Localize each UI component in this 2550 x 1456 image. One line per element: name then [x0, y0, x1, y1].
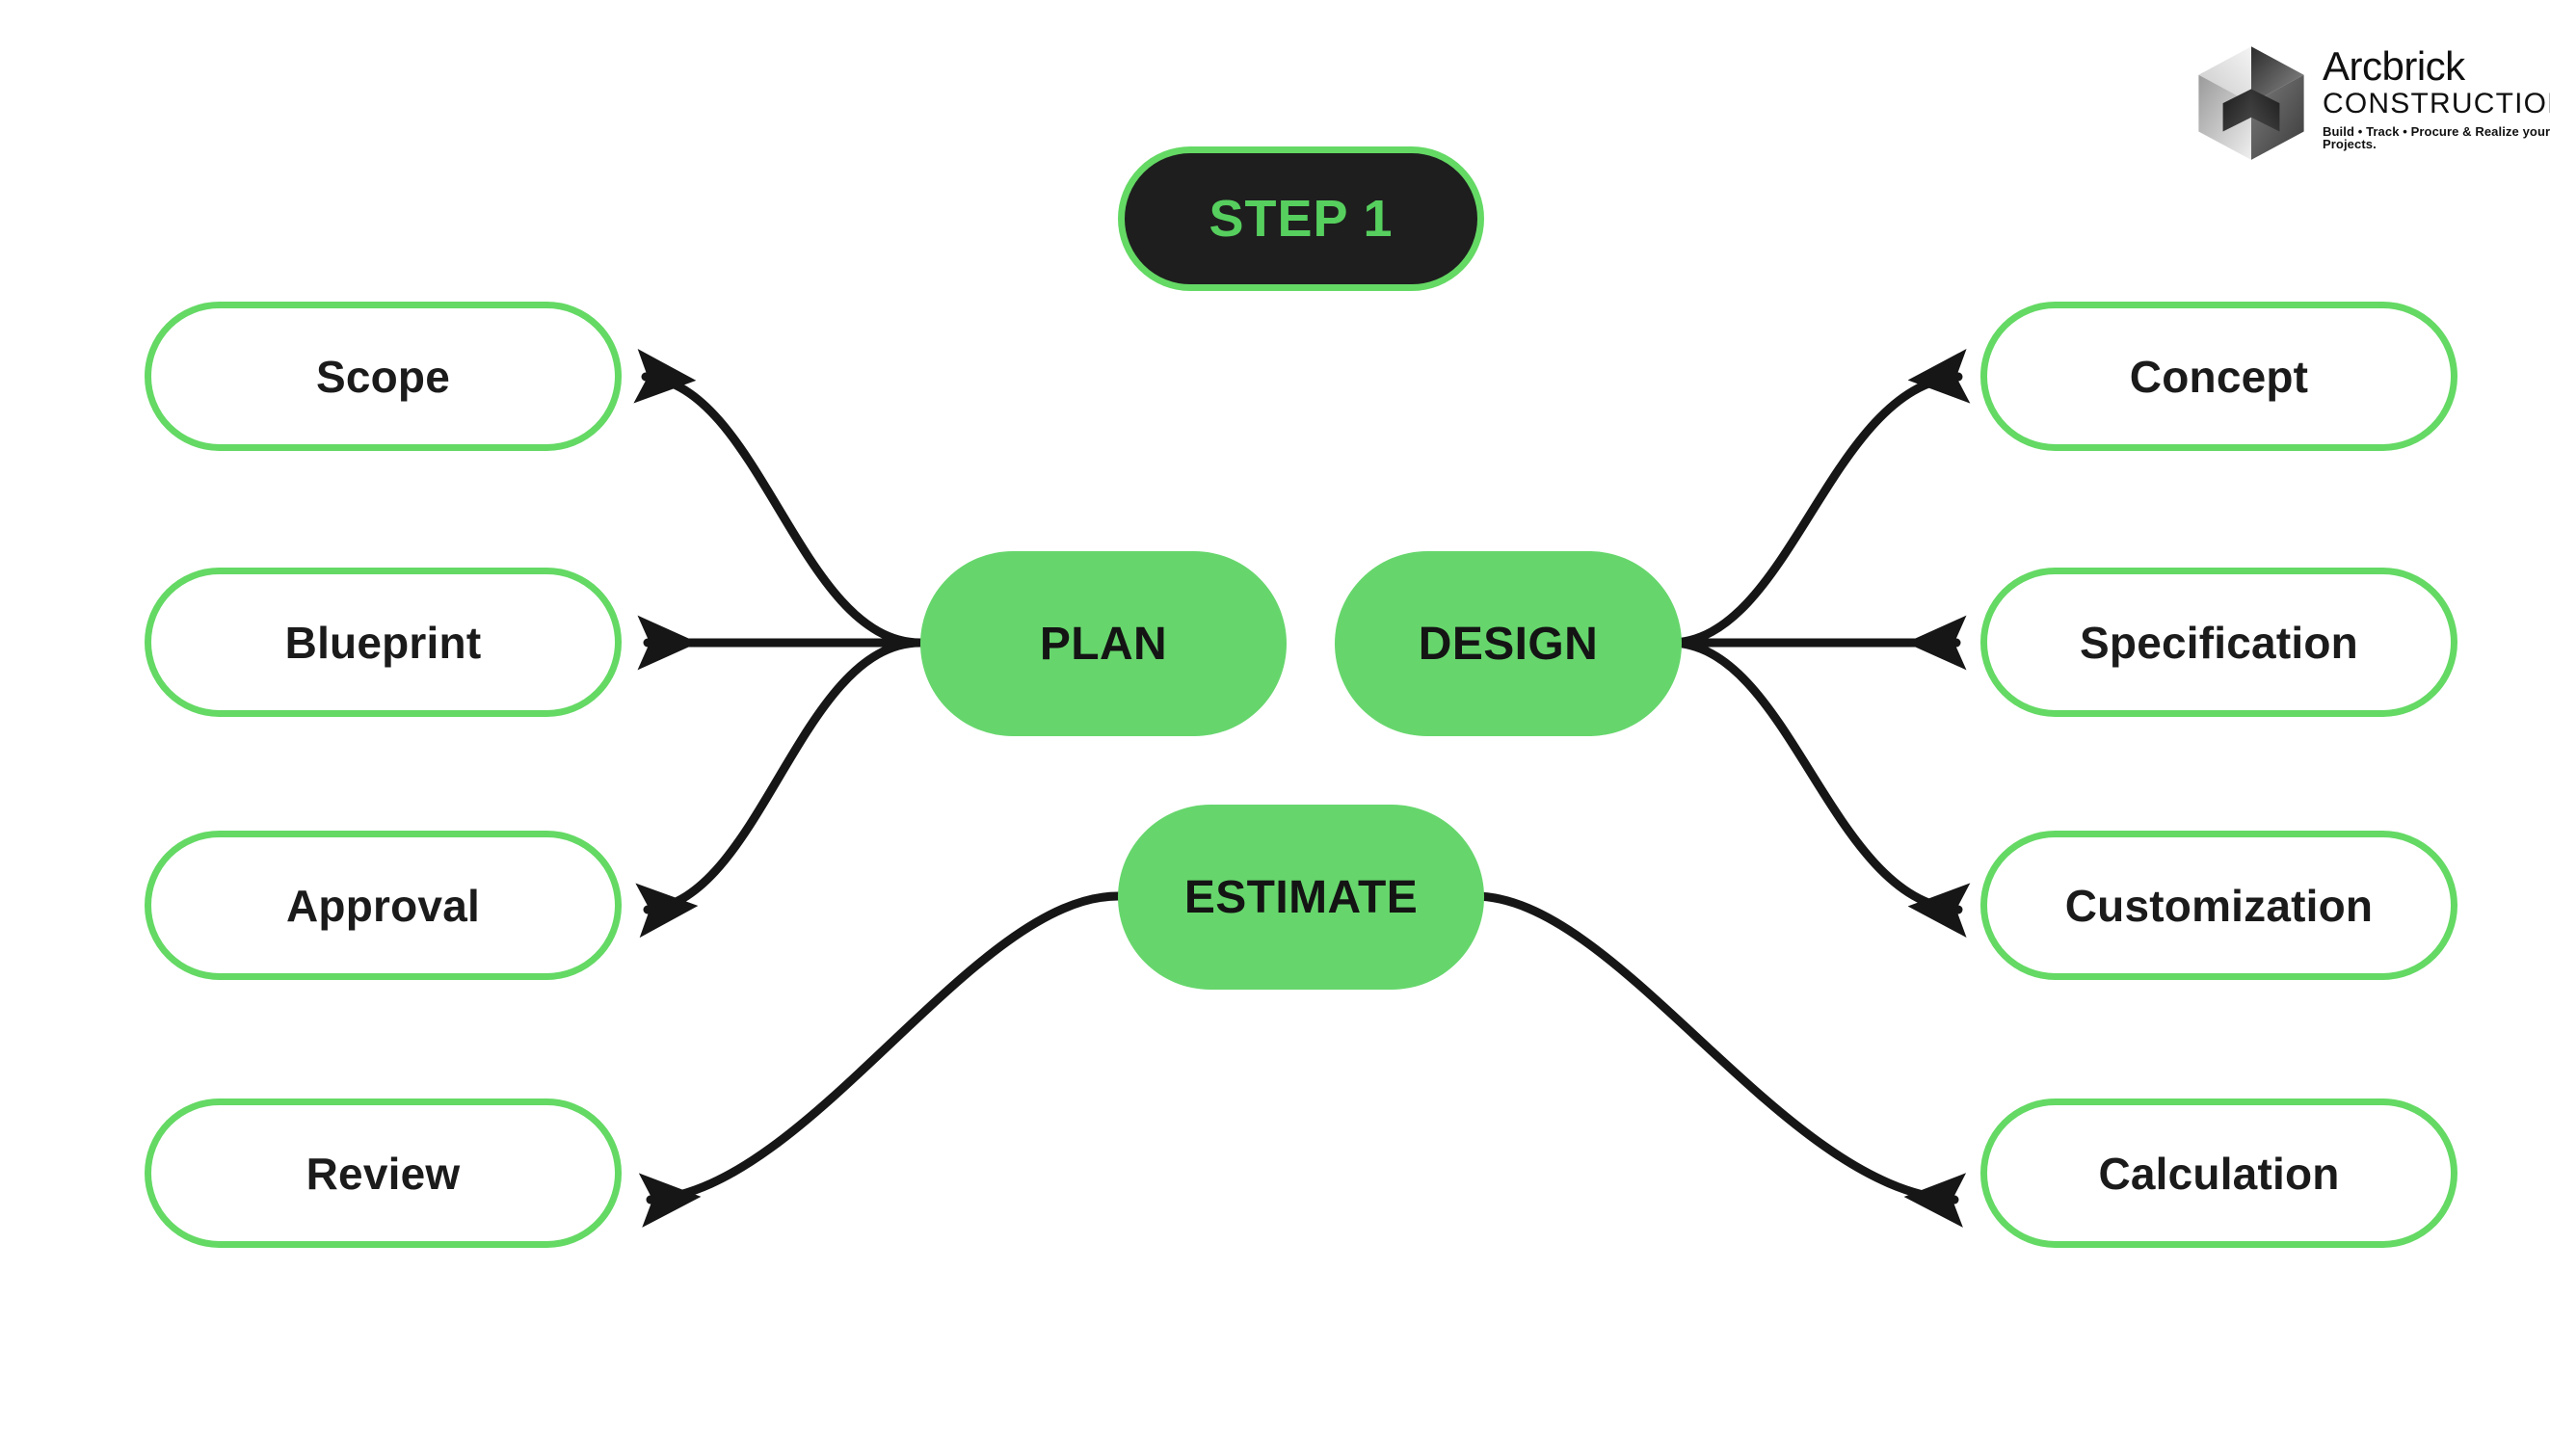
- diagram-canvas: STEP 1 Scope Blueprint Approval Review C…: [0, 0, 2550, 1456]
- node-concept[interactable]: Concept: [1980, 302, 2457, 451]
- logo-tagline: Build • Track • Procure & Realize your P…: [2323, 125, 2550, 150]
- hexagon-cube-icon: [2190, 40, 2313, 162]
- step-badge[interactable]: STEP 1: [1118, 146, 1484, 291]
- edge-estimate-review: [651, 896, 1118, 1200]
- edge-plan-scope: [646, 377, 920, 643]
- node-calculation[interactable]: Calculation: [1980, 1099, 2457, 1248]
- edge-estimate-calculation: [1474, 896, 1954, 1200]
- logo-brand-sub: CONSTRUCTIONS: [2323, 90, 2550, 119]
- node-blueprint[interactable]: Blueprint: [145, 568, 622, 717]
- hub-design[interactable]: DESIGN: [1335, 551, 1682, 736]
- edge-design-customization: [1670, 643, 1958, 910]
- node-customization[interactable]: Customization: [1980, 831, 2457, 980]
- hub-estimate[interactable]: ESTIMATE: [1118, 805, 1484, 990]
- edge-design-concept: [1670, 377, 1958, 643]
- hub-plan[interactable]: PLAN: [920, 551, 1287, 736]
- node-scope[interactable]: Scope: [145, 302, 622, 451]
- node-review[interactable]: Review: [145, 1099, 622, 1248]
- brand-logo: Arcbrick CONSTRUCTIONS Build • Track • P…: [2190, 40, 2517, 166]
- logo-brand: Arcbrick: [2323, 46, 2550, 87]
- node-approval[interactable]: Approval: [145, 831, 622, 980]
- logo-wordmark: Arcbrick CONSTRUCTIONS Build • Track • P…: [2323, 40, 2550, 150]
- edge-plan-approval: [648, 643, 920, 910]
- node-specification[interactable]: Specification: [1980, 568, 2457, 717]
